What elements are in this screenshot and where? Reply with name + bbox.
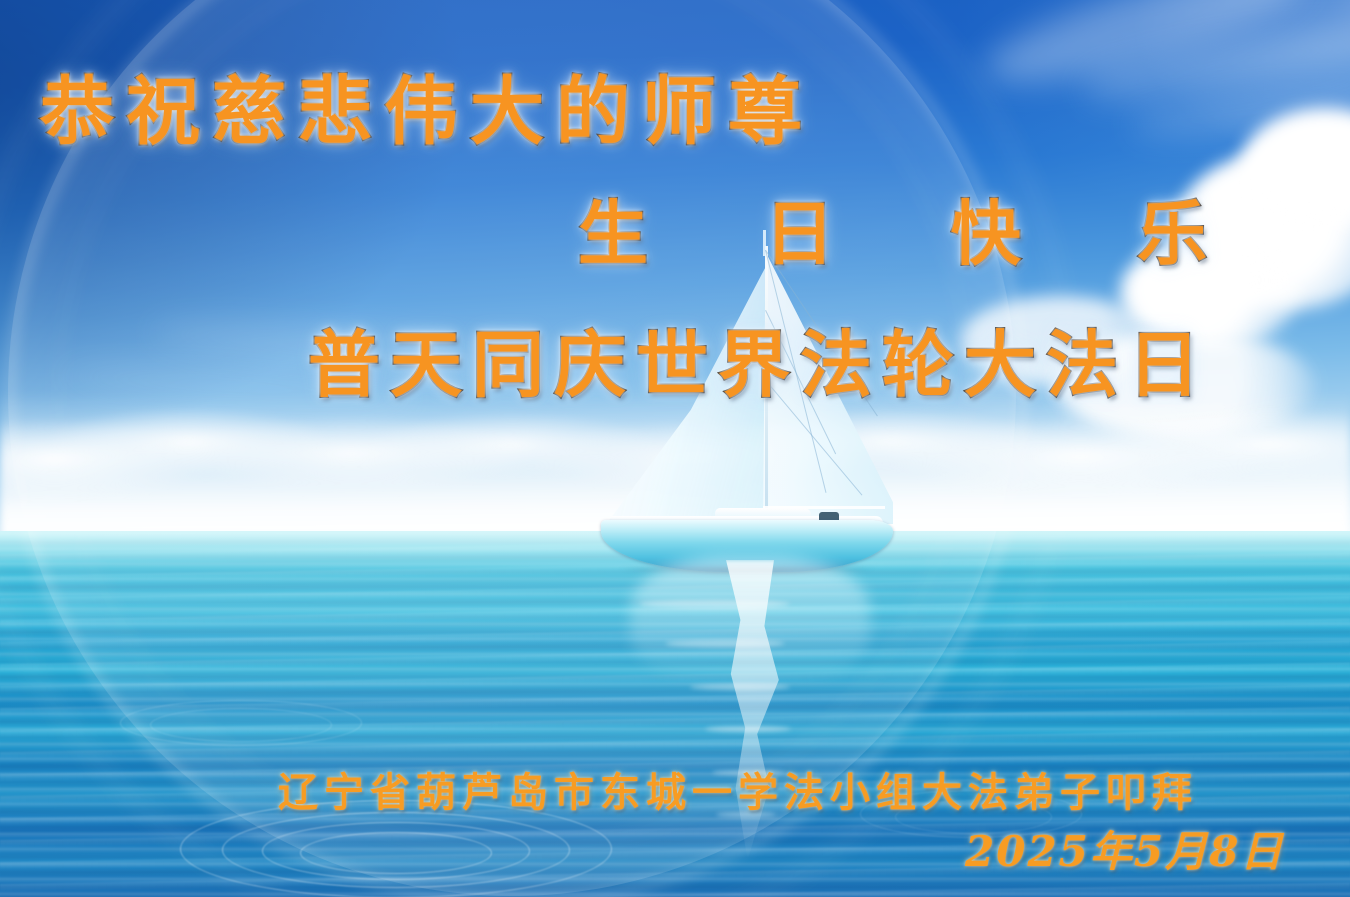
reflection-streak <box>665 640 785 647</box>
reflection-streak <box>640 600 790 608</box>
water-ripple-ring <box>150 708 332 742</box>
headline-line-1: 恭祝慈悲伟大的师尊 <box>40 52 814 159</box>
reflection-streak <box>690 684 790 690</box>
greeting-card: 恭祝慈悲伟大的师尊 生 日 快 乐 普天同庆世界法轮大法日 辽宁省葫芦岛市东城一… <box>0 0 1350 897</box>
headline-line-3: 普天同庆世界法轮大法日 <box>308 306 1210 411</box>
signature-text: 辽宁省葫芦岛市东城一学法小组大法弟子叩拜 <box>278 760 1198 818</box>
signature-date: 2025年5月8日 <box>965 818 1284 879</box>
water-ripple-ring <box>300 832 492 874</box>
reflection-streak <box>705 726 791 732</box>
headline-line-2: 生 日 快 乐 <box>578 178 1253 279</box>
